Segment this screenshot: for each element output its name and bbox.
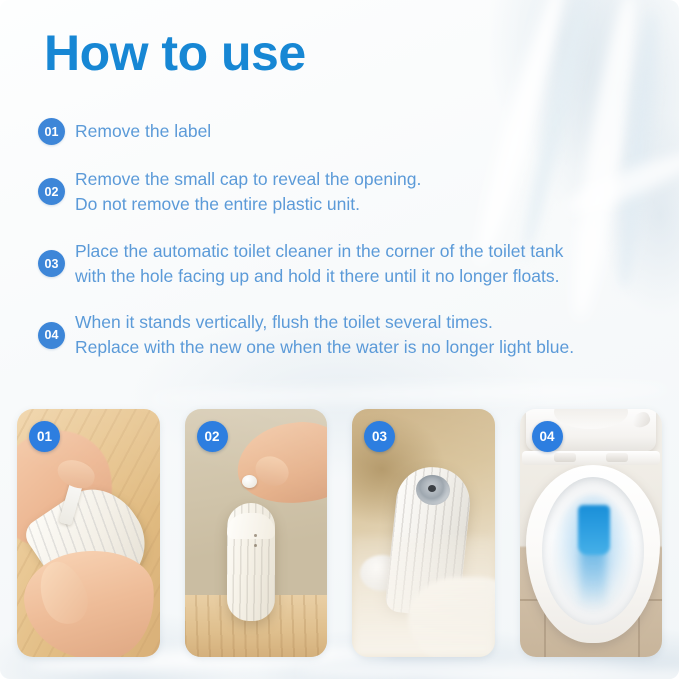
- card-number-badge-02: 02: [197, 421, 228, 452]
- card-number-badge-03: 03: [364, 421, 395, 452]
- water-streak: [300, 660, 679, 679]
- step-text-02: Remove the small cap to reveal the openi…: [75, 167, 421, 217]
- step-item: 03 Place the automatic toilet cleaner in…: [38, 239, 653, 289]
- step-number-badge-02: 02: [38, 178, 65, 205]
- steps-list: 01 Remove the label 02 Remove the small …: [38, 118, 653, 376]
- page-title: How to use: [44, 26, 306, 81]
- card-number-badge-01: 01: [29, 421, 60, 452]
- step-photo-card-03: 03: [352, 409, 495, 657]
- step-number-badge-03: 03: [38, 250, 65, 277]
- step-item: 01 Remove the label: [38, 118, 653, 145]
- card-number-badge-04: 04: [532, 421, 563, 452]
- water-streak: [150, 381, 670, 406]
- step-photo-card-02: 02: [185, 409, 328, 657]
- step-number-badge-01: 01: [38, 118, 65, 145]
- step-item: 04 When it stands vertically, flush the …: [38, 310, 653, 360]
- step-text-04: When it stands vertically, flush the toi…: [75, 310, 574, 360]
- step-item: 02 Remove the small cap to reveal the op…: [38, 167, 653, 217]
- step-number-badge-04: 04: [38, 322, 65, 349]
- step-text-01: Remove the label: [75, 119, 211, 144]
- step-text-03: Place the automatic toilet cleaner in th…: [75, 239, 563, 289]
- step-photo-card-04: 04: [520, 409, 663, 657]
- step-photo-card-01: 01: [17, 409, 160, 657]
- step-photo-cards: 01 02: [17, 409, 662, 657]
- how-to-use-instruction-page: How to use 01 Remove the label 02 Remove…: [0, 0, 679, 679]
